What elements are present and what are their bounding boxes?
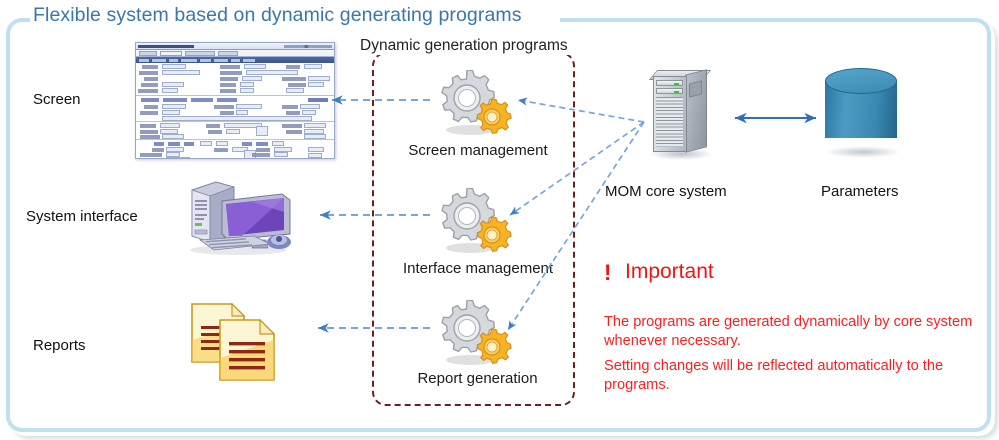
screenshot-tabs xyxy=(136,50,334,57)
row-label-reports: Reports xyxy=(33,337,86,354)
important-heading: Important xyxy=(625,260,714,284)
row-label-interface: System interface xyxy=(26,208,138,225)
core-system-label: MOM core system xyxy=(605,183,727,200)
documents-icon xyxy=(188,300,284,384)
screenshot-form-body xyxy=(136,63,334,159)
diagram-canvas: Flexible system based on dynamic generat… xyxy=(0,0,999,440)
gear-caption-screen-management: Screen management xyxy=(393,142,563,159)
gear-caption-report-generation: Report generation xyxy=(400,370,555,387)
important-paragraph-1: The programs are generated dynamically b… xyxy=(604,313,984,351)
gears-icon-interface xyxy=(437,188,515,262)
important-body: The programs are generated dynamically b… xyxy=(604,313,984,395)
exclamation-icon: ! xyxy=(604,262,611,284)
gear-caption-interface-management: Interface management xyxy=(383,260,573,277)
screenshot-titlebar xyxy=(136,43,334,50)
page-title: Flexible system based on dynamic generat… xyxy=(33,4,522,27)
important-paragraph-2: Setting changes will be reflected automa… xyxy=(604,357,984,395)
database-label: Parameters xyxy=(821,183,899,200)
database-cylinder-icon xyxy=(823,66,903,158)
browser-screenshot-icon xyxy=(135,42,335,159)
server-tower-icon xyxy=(645,68,715,160)
row-label-screen: Screen xyxy=(33,91,81,108)
gears-icon-report xyxy=(437,300,515,374)
gears-icon-screen xyxy=(437,70,515,144)
desktop-computer-icon xyxy=(182,178,294,256)
dynamic-generation-header: Dynamic generation programs xyxy=(356,37,572,55)
